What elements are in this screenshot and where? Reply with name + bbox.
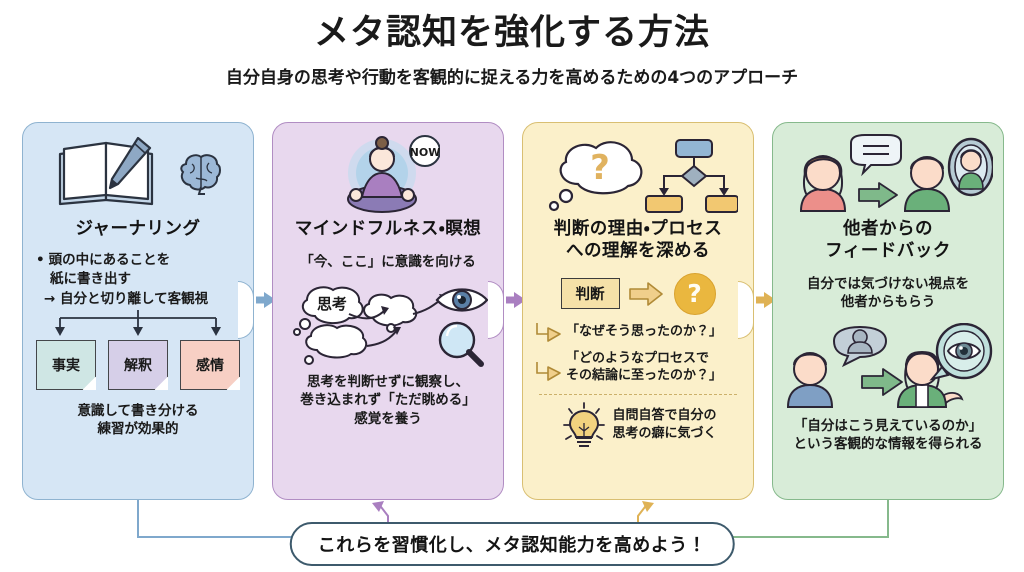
- card-title-mindfulness: マインドフルネス・瞑想: [295, 219, 481, 241]
- judgment-row: 判断 ?: [561, 273, 716, 315]
- feedback-illustration-top: [782, 131, 994, 217]
- card-mindfulness[interactable]: NOW マインドフルネス・瞑想 「今、ここ」に意識を向ける 思考: [272, 122, 504, 500]
- feedback-lead-line-2: 他者からもらう: [807, 293, 969, 311]
- cards-row: ジャーナリング • 頭の中にあることを 紙に書き出す → 自分と切り離して客観視…: [0, 122, 1024, 502]
- lightbulb-icon: [563, 401, 605, 449]
- mindfulness-mid-illustration: 思考: [282, 277, 494, 371]
- journaling-illustration: [32, 131, 244, 217]
- journaling-footer-line-2: 練習が効果的: [77, 420, 198, 438]
- eye-icon: [437, 290, 487, 311]
- feedback-footer-line-2: という客観的な情報を得られる: [794, 435, 983, 453]
- question-badge: ?: [674, 273, 716, 315]
- journaling-notes: 事実 解釈 感情: [36, 340, 240, 390]
- feedback-lead-line-1: 自分では気づけない視点を: [807, 275, 969, 293]
- card-title-feedback-line-1: 他者からの: [825, 219, 951, 241]
- question-mark-glyph: ?: [590, 148, 610, 188]
- feedback-lead: 自分では気づけない視点を 他者からもらう: [807, 275, 969, 311]
- journaling-bullets: • 頭の中にあることを 紙に書き出す → 自分と切り離して客観視: [32, 251, 208, 310]
- reasoning-illustration: ?: [532, 131, 744, 217]
- fork-arrows-icon: [38, 310, 238, 340]
- mindfulness-footer-line-2: 巻き込まれず「ただ眺める」: [300, 391, 476, 409]
- card-title-journaling: ジャーナリング: [75, 219, 200, 241]
- feedback-footer-line-1: 「自分はこう見えているのか」: [794, 417, 983, 435]
- journaling-footer-line-1: 意識して書き分ける: [77, 402, 198, 420]
- bottom-banner[interactable]: これらを習慣化し、メタ認知能力を高めよう！: [290, 522, 735, 566]
- card-title-reasoning: 判断の理由・プロセス への理解を深める: [554, 219, 722, 263]
- page-header: メタ認知を強化する方法 自分自身の思考や行動を客観的に捉える力を高めるための4つ…: [0, 0, 1024, 88]
- speech-bubble-icon: [851, 135, 901, 173]
- mindfulness-illustration: NOW: [282, 131, 494, 217]
- card-title-feedback-line-2: フィードバック: [825, 241, 951, 263]
- branch-arrow-icon: [534, 362, 562, 384]
- card-title-feedback: 他者からの フィードバック: [825, 219, 951, 263]
- question-text-1: 「なぜそう思ったのか？」: [566, 323, 722, 341]
- flowchart-icon: [646, 140, 738, 212]
- question-text-2-line-2: その結論に至ったのか？」: [566, 367, 722, 385]
- bullet-line-3: → 自分と切り離して客観視: [36, 290, 208, 310]
- mindfulness-footer-line-1: 思考を判断せずに観察し、: [300, 373, 476, 391]
- note-fact: 事実: [36, 340, 96, 390]
- card-journaling[interactable]: ジャーナリング • 頭の中にあることを 紙に書き出す → 自分と切り離して客観視…: [22, 122, 254, 500]
- person-icon: [905, 157, 949, 211]
- note-interpretation: 解釈: [108, 340, 168, 390]
- thought-label: 思考: [317, 295, 347, 313]
- magnifier-icon: [440, 323, 481, 364]
- eye-bubble-icon: [932, 324, 991, 379]
- thought-bubble-icon: [834, 327, 886, 365]
- arrow-right-icon: [862, 369, 902, 395]
- insight-line-2: 思考の癖に気づく: [612, 425, 716, 443]
- question-item-1: 「なぜそう思ったのか？」: [534, 323, 744, 345]
- question-text-2-line-1: 「どのようなプロセスで: [566, 350, 722, 368]
- card-title-reasoning-line-2: への理解を深める: [554, 241, 722, 263]
- bullet-line-1: 頭の中にあることを: [49, 251, 171, 271]
- page-subtitle: 自分自身の思考や行動を客観的に捉える力を高めるための4つのアプローチ: [0, 63, 1024, 88]
- page-title: メタ認知を強化する方法: [0, 14, 1024, 53]
- arrow-right-icon: [859, 183, 897, 207]
- person-speaking-icon: [801, 156, 845, 211]
- arrow-right-icon: [628, 281, 666, 307]
- branch-arrow-icon: [534, 323, 562, 345]
- person-icon: [788, 353, 832, 407]
- feedback-illustration-bottom: [782, 321, 994, 413]
- judgment-box: 判断: [561, 278, 620, 309]
- question-text-2: 「どのようなプロセスで その結論に至ったのか？」: [566, 350, 722, 385]
- mindfulness-lead: 「今、ここ」に意識を向ける: [300, 253, 476, 271]
- brain-icon: [174, 148, 226, 200]
- mirror-icon: [949, 139, 993, 195]
- bullet-line-2: 紙に書き出す: [36, 270, 208, 290]
- insight-line-1: 自問自答で自分の: [612, 407, 716, 425]
- bottom-banner-wrap: これらを習慣化し、メタ認知能力を高めよう！: [0, 512, 1024, 562]
- question-thought-cloud-icon: ?: [550, 142, 641, 210]
- meditating-person-icon: NOW: [336, 133, 440, 215]
- card-title-reasoning-line-1: 判断の理由・プロセス: [554, 219, 722, 241]
- dashed-divider: [539, 394, 736, 395]
- open-book-icon: [50, 136, 168, 212]
- question-item-2: 「どのようなプロセスで その結論に至ったのか？」: [534, 350, 744, 385]
- card-reasoning[interactable]: ? 判断の理由・プロセス への理解を深める 判断: [522, 122, 754, 500]
- bullet-marker: •: [36, 251, 45, 271]
- insight-text: 自問自答で自分の 思考の癖に気づく: [612, 407, 716, 442]
- mindfulness-footer-line-3: 感覚を養う: [300, 410, 476, 428]
- now-badge-label: NOW: [410, 146, 440, 159]
- card-notch: [238, 281, 254, 339]
- insight-row: 自問自答で自分の 思考の癖に気づく: [559, 401, 716, 449]
- reasoning-questions: 「なぜそう思ったのか？」 「どのようなプロセスで その結論に至ったのか？」: [532, 323, 744, 390]
- note-emotion: 感情: [180, 340, 240, 390]
- card-feedback[interactable]: 他者からの フィードバック 自分では気づけない視点を 他者からもらう: [772, 122, 1004, 500]
